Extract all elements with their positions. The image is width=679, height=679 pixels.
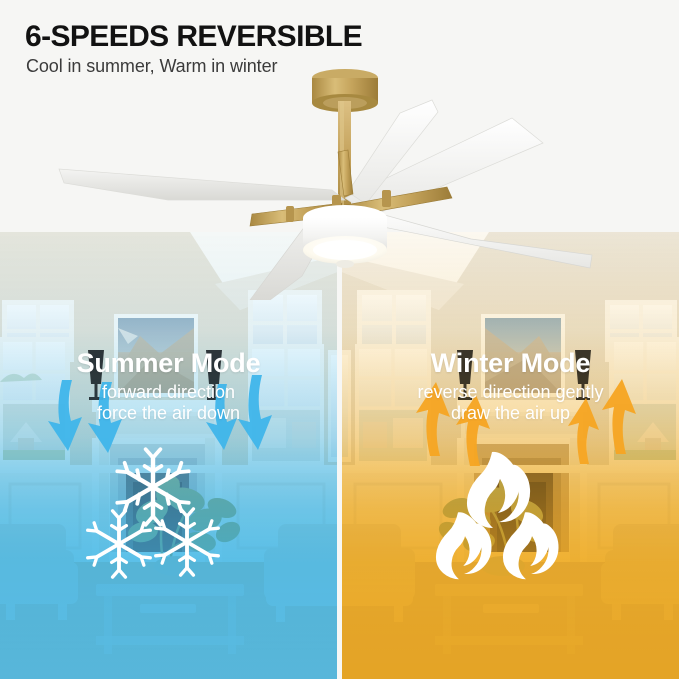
panel-winter-mode	[342, 232, 679, 679]
header-band: 6-SPEEDS REVERSIBLE Cool in summer, Warm…	[0, 0, 679, 232]
comparison-panels	[0, 232, 679, 679]
panel-summer-mode	[0, 232, 337, 679]
panel-divider	[337, 232, 342, 679]
summer-mode-caption: Summer Mode forward direction force the …	[0, 348, 337, 424]
winter-mode-title: Winter Mode	[342, 348, 679, 378]
infographic-canvas: Summer Mode forward direction force the …	[0, 0, 679, 679]
summer-mode-title: Summer Mode	[0, 348, 337, 378]
winter-mode-caption: Winter Mode reverse direction gently dra…	[342, 348, 679, 424]
page-title: 6-SPEEDS REVERSIBLE	[25, 20, 362, 54]
winter-mode-desc-line2: draw the air up	[342, 403, 679, 424]
winter-mode-desc-line1: reverse direction gently	[342, 382, 679, 403]
summer-mode-desc-line1: forward direction	[0, 382, 337, 403]
living-room-illustration-mirrored	[342, 232, 679, 679]
page-subtitle: Cool in summer, Warm in winter	[26, 56, 277, 77]
summer-mode-desc-line2: force the air down	[0, 403, 337, 424]
living-room-illustration	[0, 232, 337, 679]
